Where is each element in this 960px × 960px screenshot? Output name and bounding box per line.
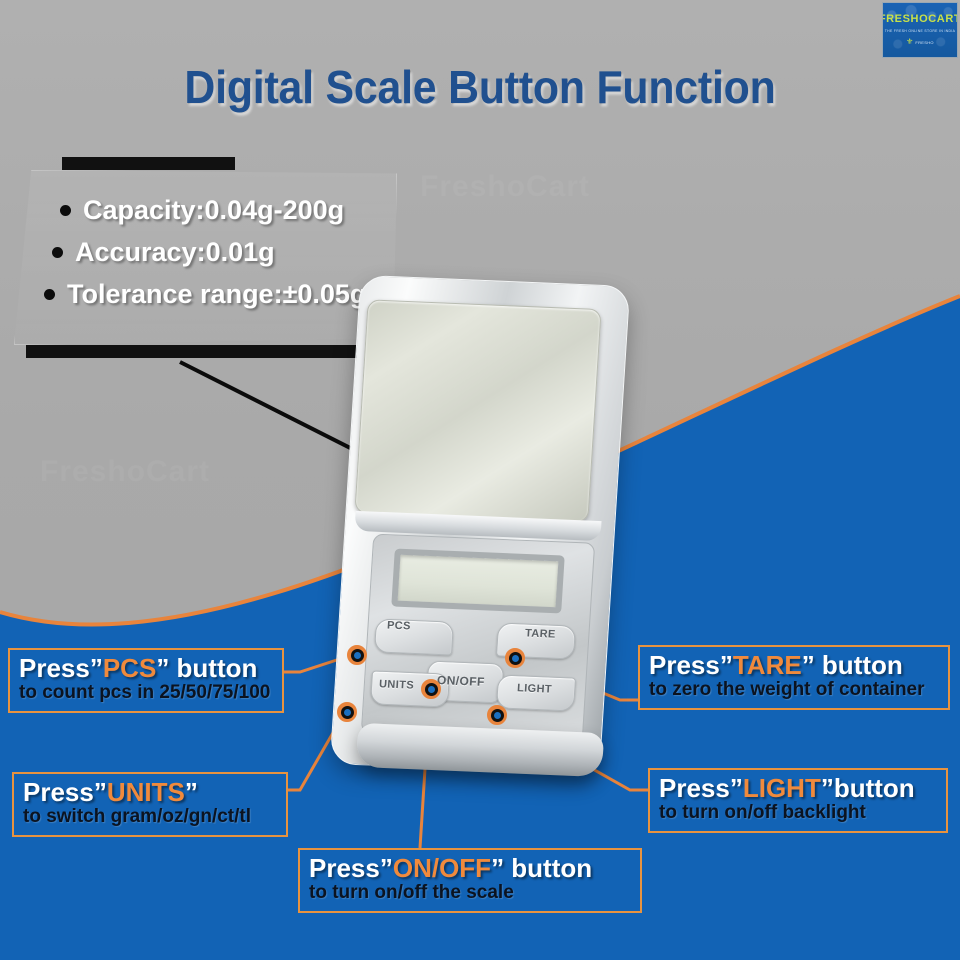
callout-tare-suffix: ” button: [802, 650, 903, 680]
leaf-icon: ⚜: [906, 38, 913, 46]
onoff-target-marker[interactable]: [421, 679, 441, 699]
tare-target-marker[interactable]: [505, 648, 525, 668]
callout-tare-detail: to zero the weight of container: [649, 680, 939, 701]
onoff-button-label: ON/OFF: [437, 673, 486, 689]
specifications-panel: Capacity:0.04g-200g Accuracy:0.01g Toler…: [14, 157, 397, 359]
callout-tare-heading: Press”TARE” button: [649, 652, 939, 679]
callout-light: Press”LIGHT”button to turn on/off backli…: [648, 768, 948, 833]
spec-item-accuracy: Accuracy:0.01g: [52, 237, 394, 268]
bullet-icon: [44, 289, 55, 300]
spec-item-tolerance: Tolerance range:±0.05g: [44, 279, 394, 310]
spec-bottom-rule: [26, 345, 399, 358]
callout-pcs: Press”PCS” button to count pcs in 25/50/…: [8, 648, 284, 713]
callout-tare-keyword: TARE: [733, 650, 802, 680]
tare-button-label: TARE: [525, 627, 556, 640]
pcs-button-label: PCS: [387, 620, 412, 633]
bullet-icon: [60, 205, 71, 216]
callout-pcs-heading: Press”PCS” button: [19, 655, 273, 682]
spec-item-capacity: Capacity:0.04g-200g: [60, 195, 394, 226]
spec-text: Capacity:0.04g-200g: [83, 195, 344, 226]
logo-wordmark: FRESHOCART: [882, 14, 958, 25]
callout-onoff-suffix: ” button: [491, 853, 592, 883]
freshocart-logo[interactable]: FRESHOCART THE FRESH ONLINE STORE IN IND…: [882, 2, 958, 58]
callout-light-prefix: Press”: [659, 773, 743, 803]
callout-units-keyword: UNITS: [107, 777, 185, 807]
watermark-text-secondary: FreshoCart: [420, 170, 840, 204]
light-button-label: LIGHT: [517, 682, 553, 695]
lcd-display: [391, 548, 565, 613]
watermark-text: FreshoCart: [40, 455, 380, 489]
callout-pcs-detail: to count pcs in 25/50/75/100: [19, 683, 273, 704]
callout-units: Press”UNITS” to switch gram/oz/gn/ct/tl: [12, 772, 288, 837]
callout-light-suffix: ”button: [821, 773, 915, 803]
callout-light-keyword: LIGHT: [743, 773, 821, 803]
callout-units-detail: to switch gram/oz/gn/ct/tl: [23, 807, 277, 828]
spec-text: Tolerance range:±0.05g: [67, 279, 366, 310]
scale-base: [356, 723, 605, 777]
page-title: Digital Scale Button Function: [34, 60, 927, 114]
callout-pcs-suffix: ” button: [156, 653, 257, 683]
units-button-label: UNITS: [379, 678, 415, 691]
callout-units-prefix: Press”: [23, 777, 107, 807]
logo-tagline: THE FRESH ONLINE STORE IN INDIA: [885, 29, 956, 33]
callout-onoff-detail: to turn on/off the scale: [309, 883, 631, 904]
pcs-target-marker[interactable]: [347, 645, 367, 665]
pcs-button[interactable]: [374, 618, 454, 655]
spec-top-rule: [62, 157, 235, 170]
weighing-platform: [354, 299, 601, 522]
spec-text: Accuracy:0.01g: [75, 237, 275, 268]
callout-onoff: Press”ON/OFF” button to turn on/off the …: [298, 848, 642, 913]
callout-onoff-keyword: ON/OFF: [393, 853, 491, 883]
bullet-icon: [52, 247, 63, 258]
units-target-marker[interactable]: [337, 702, 357, 722]
spec-list: Capacity:0.04g-200g Accuracy:0.01g Toler…: [44, 195, 394, 321]
callout-pcs-prefix: Press”: [19, 653, 103, 683]
callout-onoff-prefix: Press”: [309, 853, 393, 883]
callout-units-suffix: ”: [185, 777, 198, 807]
callout-tare: Press”TARE” button to zero the weight of…: [638, 645, 950, 710]
callout-units-heading: Press”UNITS”: [23, 779, 277, 806]
light-target-marker[interactable]: [487, 705, 507, 725]
logo-emblem-label: FRESHO: [915, 40, 933, 45]
callout-light-detail: to turn on/off backlight: [659, 803, 937, 824]
callout-tare-prefix: Press”: [649, 650, 733, 680]
callout-pcs-keyword: PCS: [103, 653, 156, 683]
logo-emblem: ⚜ FRESHO: [906, 38, 934, 46]
callout-light-heading: Press”LIGHT”button: [659, 775, 937, 802]
infographic-canvas: FreshoCart FreshoCart FRESHOCART THE FRE…: [0, 0, 960, 960]
callout-onoff-heading: Press”ON/OFF” button: [309, 855, 631, 882]
